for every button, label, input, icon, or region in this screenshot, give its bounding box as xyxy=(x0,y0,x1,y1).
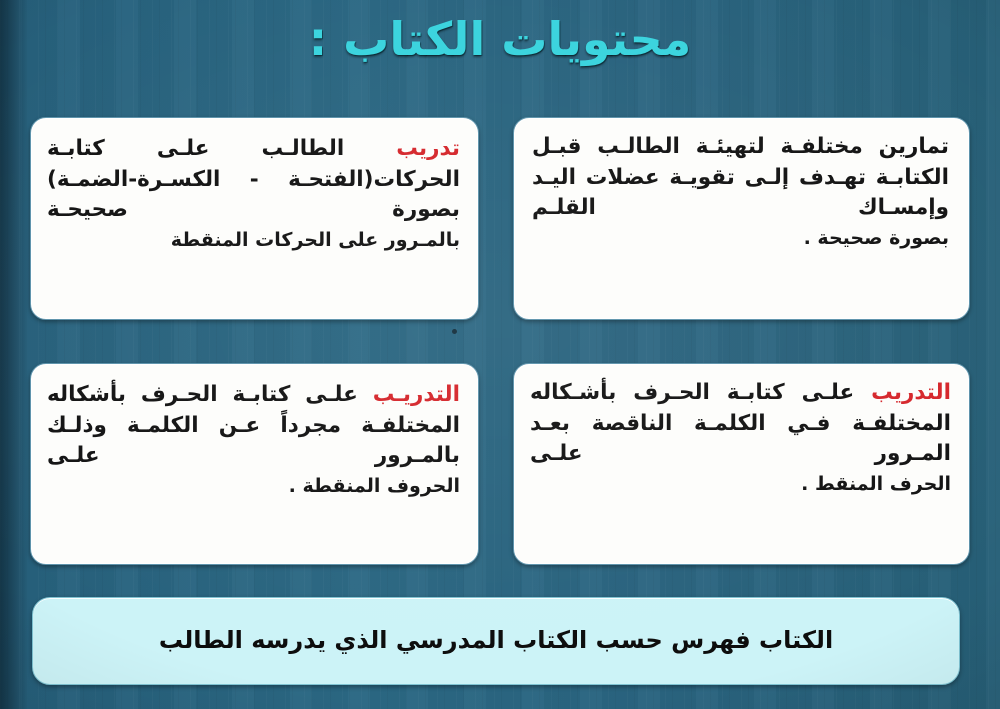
card-tail-bottom-right: الحرف المنقط . xyxy=(530,472,951,498)
content-card-bottom-right: التدريب علـى كتابـة الحـرف بأشـكاله المخ… xyxy=(513,363,970,565)
highlight-term-bottom-left: التدريـب xyxy=(373,382,460,407)
card-text-top-left: تدريب الطالـب علـى كتابـة الحركات(الفتحـ… xyxy=(31,118,478,253)
card-tail-top-left: بالمـرور على الحركات المنقطة xyxy=(47,228,460,254)
artifact-speck xyxy=(452,329,457,334)
content-card-bottom-left: التدريـب علـى كتابـة الحـرف بأشكاله المخ… xyxy=(30,363,479,565)
highlight-term-top-left: تدريب xyxy=(396,136,460,161)
card-text-bottom-right: التدريب علـى كتابـة الحـرف بأشـكاله المخ… xyxy=(514,364,969,497)
highlight-term-bottom-right: التدريب xyxy=(871,380,951,405)
card-body-top-right: تمارين مختلفـة لتهيئـة الطالـب قبـل الكت… xyxy=(532,134,949,220)
summary-banner: الكتاب فهرس حسب الكتاب المدرسي الذي يدرس… xyxy=(32,597,960,685)
page-title: محتويات الكتاب : xyxy=(0,12,1000,66)
card-text-bottom-left: التدريـب علـى كتابـة الحـرف بأشكاله المخ… xyxy=(31,364,478,499)
content-card-top-left: تدريب الطالـب علـى كتابـة الحركات(الفتحـ… xyxy=(30,117,479,320)
summary-banner-text: الكتاب فهرس حسب الكتاب المدرسي الذي يدرس… xyxy=(135,625,857,656)
card-text-top-right: تمارين مختلفـة لتهيئـة الطالـب قبـل الكت… xyxy=(514,118,969,251)
card-tail-bottom-left: الحروف المنقطة . xyxy=(47,474,460,500)
card-tail-top-right: بصورة صحيحة . xyxy=(532,226,949,252)
content-card-top-right: تمارين مختلفـة لتهيئـة الطالـب قبـل الكت… xyxy=(513,117,970,320)
slide-canvas: محتويات الكتاب : تدريب الطالـب علـى كتاب… xyxy=(0,0,1000,709)
